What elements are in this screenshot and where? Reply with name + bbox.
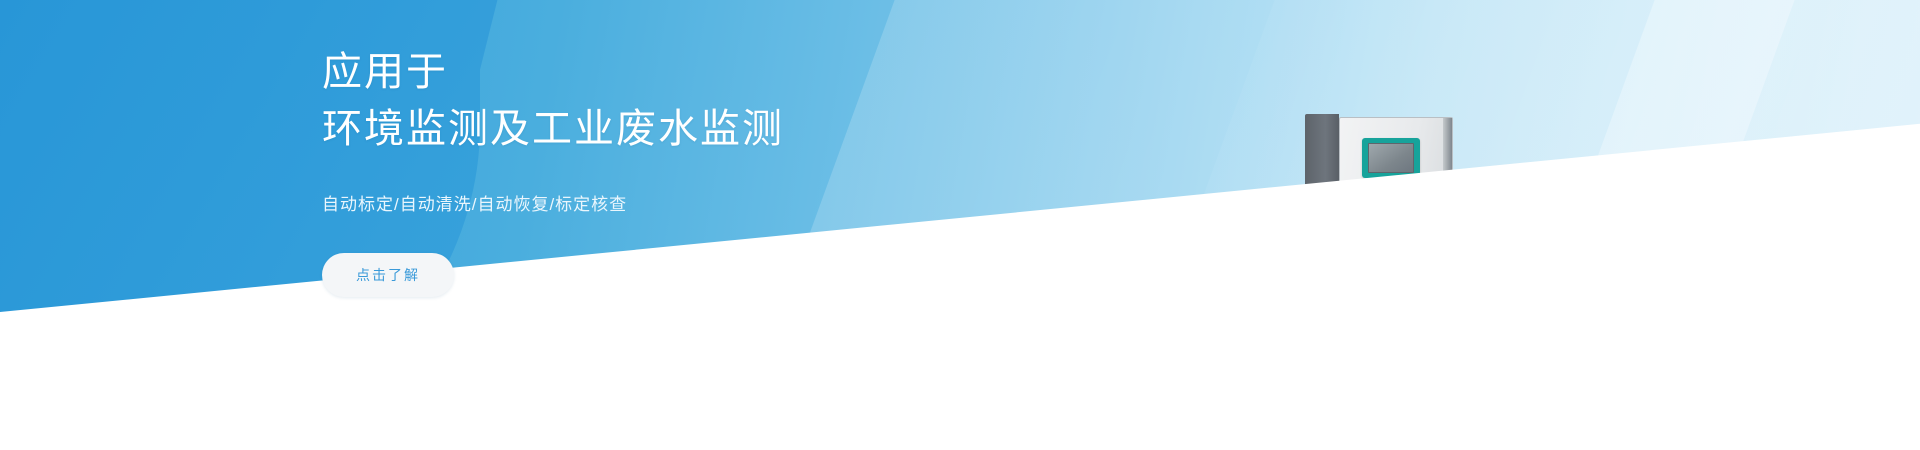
device-display-bezel — [1362, 138, 1420, 178]
headline-line-2: 环境监测及工业废水监测 — [322, 101, 1082, 158]
hero-subheadline: 自动标定/自动清洗/自动恢复/标定核查 — [322, 190, 1082, 215]
headline-line-1: 应用于 — [322, 44, 1082, 101]
device-display-screen — [1368, 143, 1414, 173]
hero-banner: 水质在线自动分析仪 应用于 环境监测及工业废水监测 自动标定/自动清洗/自动恢复… — [0, 0, 1920, 450]
page-title: 应用于 环境监测及工业废水监测 — [322, 44, 1082, 158]
learn-more-button[interactable]: 点击了解 — [322, 253, 454, 297]
hero-content: 应用于 环境监测及工业废水监测 自动标定/自动清洗/自动恢复/标定核查 点击了解 — [322, 44, 1082, 297]
